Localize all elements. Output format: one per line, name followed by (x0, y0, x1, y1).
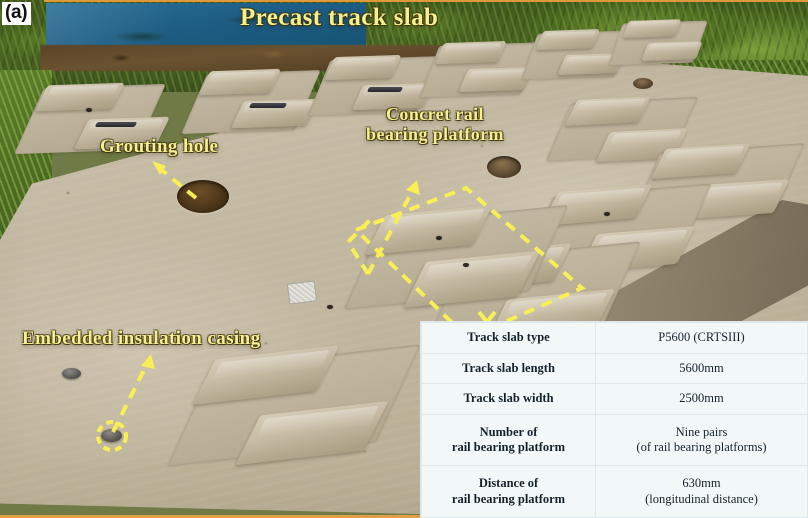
spec-key: Number of rail bearing platform (422, 414, 596, 466)
rail-bearing-platform (536, 29, 601, 50)
anchor-bolt (436, 236, 442, 240)
grouting-hole (487, 156, 521, 178)
spec-key: Distance of rail bearing platform (422, 466, 596, 518)
grouting-hole (633, 78, 653, 89)
rail-clip (367, 87, 403, 92)
anchor-bolt (327, 305, 333, 309)
anchor-bolt (463, 263, 469, 267)
spec-value-line-1: 630mm (682, 476, 720, 490)
spec-key: Track slab width (422, 384, 596, 415)
label-embedded-insulation-casing: Embedded insulation casing (22, 328, 260, 349)
spec-key-line-2: rail bearing platform (452, 440, 565, 454)
label-grouting-hole: Grouting hole (100, 136, 218, 157)
embedded-metal-plate (287, 280, 317, 304)
rail-bearing-platform (324, 55, 401, 80)
rail-bearing-platform (199, 69, 282, 95)
rail-bearing-platform (35, 83, 125, 112)
spec-value: 2500mm (596, 384, 808, 415)
rail-bearing-platform (622, 19, 681, 38)
spec-value: Nine pairs (of rail bearing platforms) (596, 414, 808, 466)
spec-key: Track slab length (422, 353, 596, 384)
panel-label: (a) (2, 2, 31, 25)
anchor-bolt (604, 212, 610, 216)
spec-value: 5600mm (596, 353, 808, 384)
table-row: Number of rail bearing platform Nine pai… (422, 414, 808, 466)
label-concrete-rail-bearing-platform: Concret rail bearing platform (345, 104, 525, 144)
rail-clip (249, 103, 288, 108)
table-row: Track slab length 5600mm (422, 353, 808, 384)
embedded-insulation-casing (62, 368, 81, 379)
spec-value-line-1: Nine pairs (676, 425, 728, 439)
spec-key-line-2: rail bearing platform (452, 492, 565, 506)
label-line-2: bearing platform (366, 124, 504, 144)
specification-table: Track slab type P5600 (CRTSIII) Track sl… (421, 322, 808, 518)
spec-value-line-2: (longitudinal distance) (645, 492, 758, 506)
table-row: Distance of rail bearing platform 630mm … (422, 466, 808, 518)
rail-bearing-platform (435, 41, 507, 64)
spec-value-line-2: (of rail bearing platforms) (636, 440, 766, 454)
label-line-1: Concret rail (386, 104, 484, 124)
spec-key: Track slab type (422, 323, 596, 354)
figure-panel: (a) Precast track slab Grouting hole Con… (0, 0, 808, 518)
figure-title: Precast track slab (240, 4, 438, 32)
rail-clip (95, 122, 138, 127)
spec-value: 630mm (longitudinal distance) (596, 466, 808, 518)
grouting-hole (177, 180, 229, 213)
spec-key-line-1: Number of (480, 425, 538, 439)
rail-bearing-platform (641, 41, 703, 61)
embedded-insulation-casing (101, 429, 122, 442)
anchor-bolt (86, 108, 92, 112)
spec-key-line-1: Distance of (479, 476, 538, 490)
table-row: Track slab type P5600 (CRTSIII) (422, 323, 808, 354)
spec-value: P5600 (CRTSIII) (596, 323, 808, 354)
table-row: Track slab width 2500mm (422, 384, 808, 415)
top-rule (44, 0, 808, 2)
